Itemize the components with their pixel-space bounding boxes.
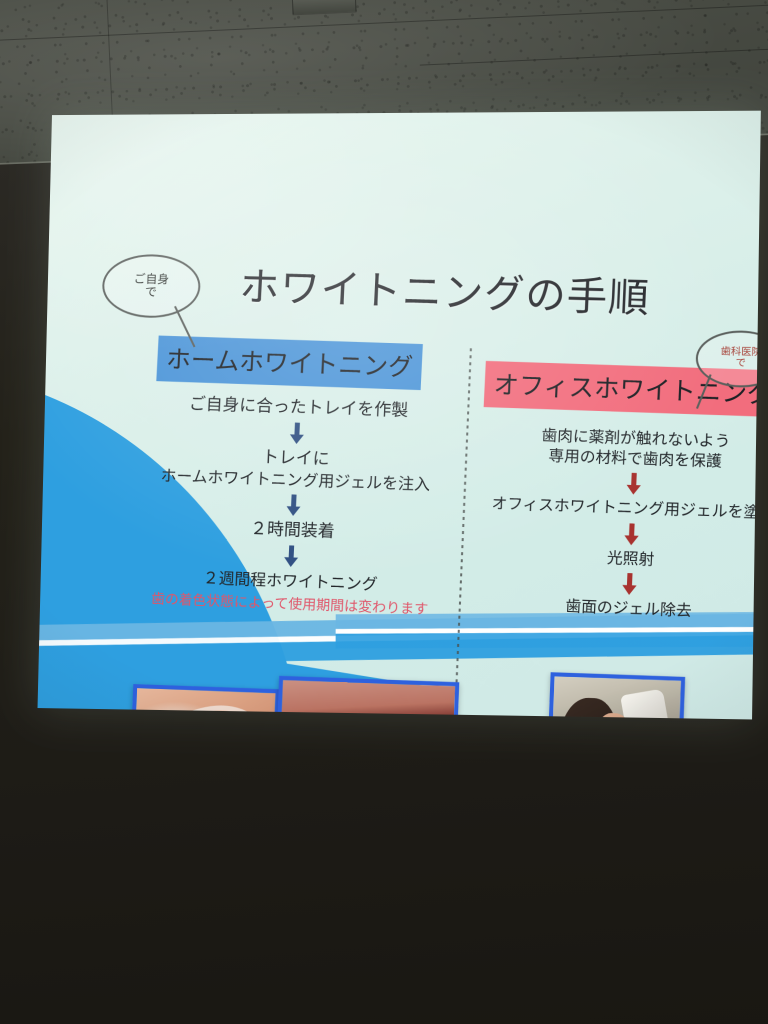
step-home-3: ２時間装着 [119, 514, 467, 548]
flow-column-home: ご自身に合ったトレイを作製 トレイに ホームホワイトニング用ジェルを注入 ２時間 [115, 392, 473, 634]
callout-self-line2: で [145, 286, 157, 299]
step-office-2: オフィスホワイトニング用ジェルを塗布 [474, 494, 760, 525]
slide-title: ホワイトニングの手順 [238, 255, 651, 325]
arrow-down-icon [625, 473, 642, 496]
arrow-down-icon [285, 494, 302, 517]
arrow-down-icon [621, 573, 638, 596]
arrow-down-icon [623, 523, 640, 546]
projection-screen: ホワイトニングの手順 ご自身 で 歯科医院 で [35, 106, 758, 719]
column-banner-home: ホームホワイトニング [156, 336, 423, 390]
step-office-4: 歯面のジェル除去 [470, 594, 761, 626]
photo-of-projected-slide: ホワイトニングの手順 ご自身 で 歯科医院 で [0, 0, 768, 1024]
callout-bubble-self: ご自身 で [101, 254, 201, 319]
callout-bubble-clinic: 歯科医院 で [695, 330, 761, 388]
arrow-down-icon [288, 423, 305, 445]
flow-column-office: 歯肉に薬剤が触れないよう 専用の材料で歯肉を保護 オフィスホワイトニング用ジェル… [470, 424, 761, 625]
arrow-down-icon [283, 546, 300, 569]
step-home-1: ご自身に合ったトレイを作製 [125, 392, 473, 424]
photo-office-treatment [546, 672, 686, 719]
step-office-3: 光照射 [472, 544, 761, 575]
callout-clinic-line2: で [735, 359, 746, 370]
